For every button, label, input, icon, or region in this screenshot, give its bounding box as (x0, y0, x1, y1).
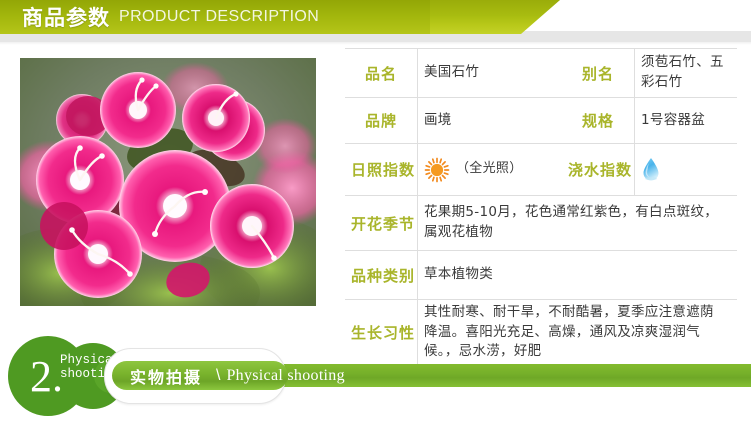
spec-value-leibie: 草本植物类 (418, 251, 738, 300)
spec-label-jiaoshui: 浇水指数 (562, 144, 635, 196)
spec-value-pinpai: 画境 (418, 98, 563, 144)
section-physical-shooting: 2. Physicalshooting 实物拍摄 \ Physical shoo… (0, 333, 751, 418)
spec-value-bieming: 须苞石竹、五彩石竹 (635, 49, 738, 98)
spec-value-rizhao-text: （全光照） (456, 160, 523, 179)
spec-value-pinming: 美国石竹 (418, 49, 563, 98)
section-title-cn: 实物拍摄 (130, 364, 202, 388)
spec-label-pinming: 品名 (345, 49, 418, 98)
sun-icon (424, 157, 450, 183)
table-row: 品牌 画境 规格 1号容器盆 (345, 98, 737, 144)
flower-photo-icon (20, 58, 316, 306)
spec-label-guige: 规格 (562, 98, 635, 144)
spec-value-rizhao: （全光照） (418, 144, 563, 196)
spec-label-bieming: 别名 (562, 49, 635, 98)
product-photo (20, 58, 316, 306)
section-title-bar: 实物拍摄 \ Physical shooting (104, 348, 751, 402)
header-gray-band-shadow (0, 42, 751, 45)
spec-label-leibie: 品种类别 (345, 251, 418, 300)
page-title-en: PRODUCT DESCRIPTION (119, 8, 319, 26)
spec-label-rizhao: 日照指数 (345, 144, 418, 196)
badge-number: 2. (30, 357, 63, 397)
header-title-group: 商品参数 PRODUCT DESCRIPTION (22, 0, 319, 34)
table-row: 品种类别 草本植物类 (345, 251, 737, 300)
section-bar-label-group: 实物拍摄 \ Physical shooting (130, 361, 345, 390)
spec-label-huaji: 开花季节 (345, 196, 418, 251)
spec-value-huaji: 花果期5-10月，花色通常红紫色，有白点斑纹，属观花植物 (418, 196, 738, 251)
product-spec-table: 品名 美国石竹 别名 须苞石竹、五彩石竹 品牌 画境 规格 1号容器盆 日照指数 (345, 48, 737, 366)
sun-value-group: （全光照） (424, 157, 556, 183)
spec-label-pinpai: 品牌 (345, 98, 418, 144)
page-header: 商品参数 PRODUCT DESCRIPTION (0, 0, 751, 49)
section-title-en: Physical shooting (226, 367, 344, 385)
spec-value-guige: 1号容器盆 (635, 98, 738, 144)
water-drop-icon (641, 157, 661, 182)
section-title-separator: \ (216, 367, 220, 385)
table-row: 开花季节 花果期5-10月，花色通常红紫色，有白点斑纹，属观花植物 (345, 196, 737, 251)
page-title: 商品参数 (22, 2, 110, 32)
spec-value-jiaoshui (635, 144, 738, 196)
spec-table: 品名 美国石竹 别名 须苞石竹、五彩石竹 品牌 画境 规格 1号容器盆 日照指数 (345, 48, 737, 366)
table-row: 品名 美国石竹 别名 须苞石竹、五彩石竹 (345, 49, 737, 98)
table-row: 日照指数 (345, 144, 737, 196)
